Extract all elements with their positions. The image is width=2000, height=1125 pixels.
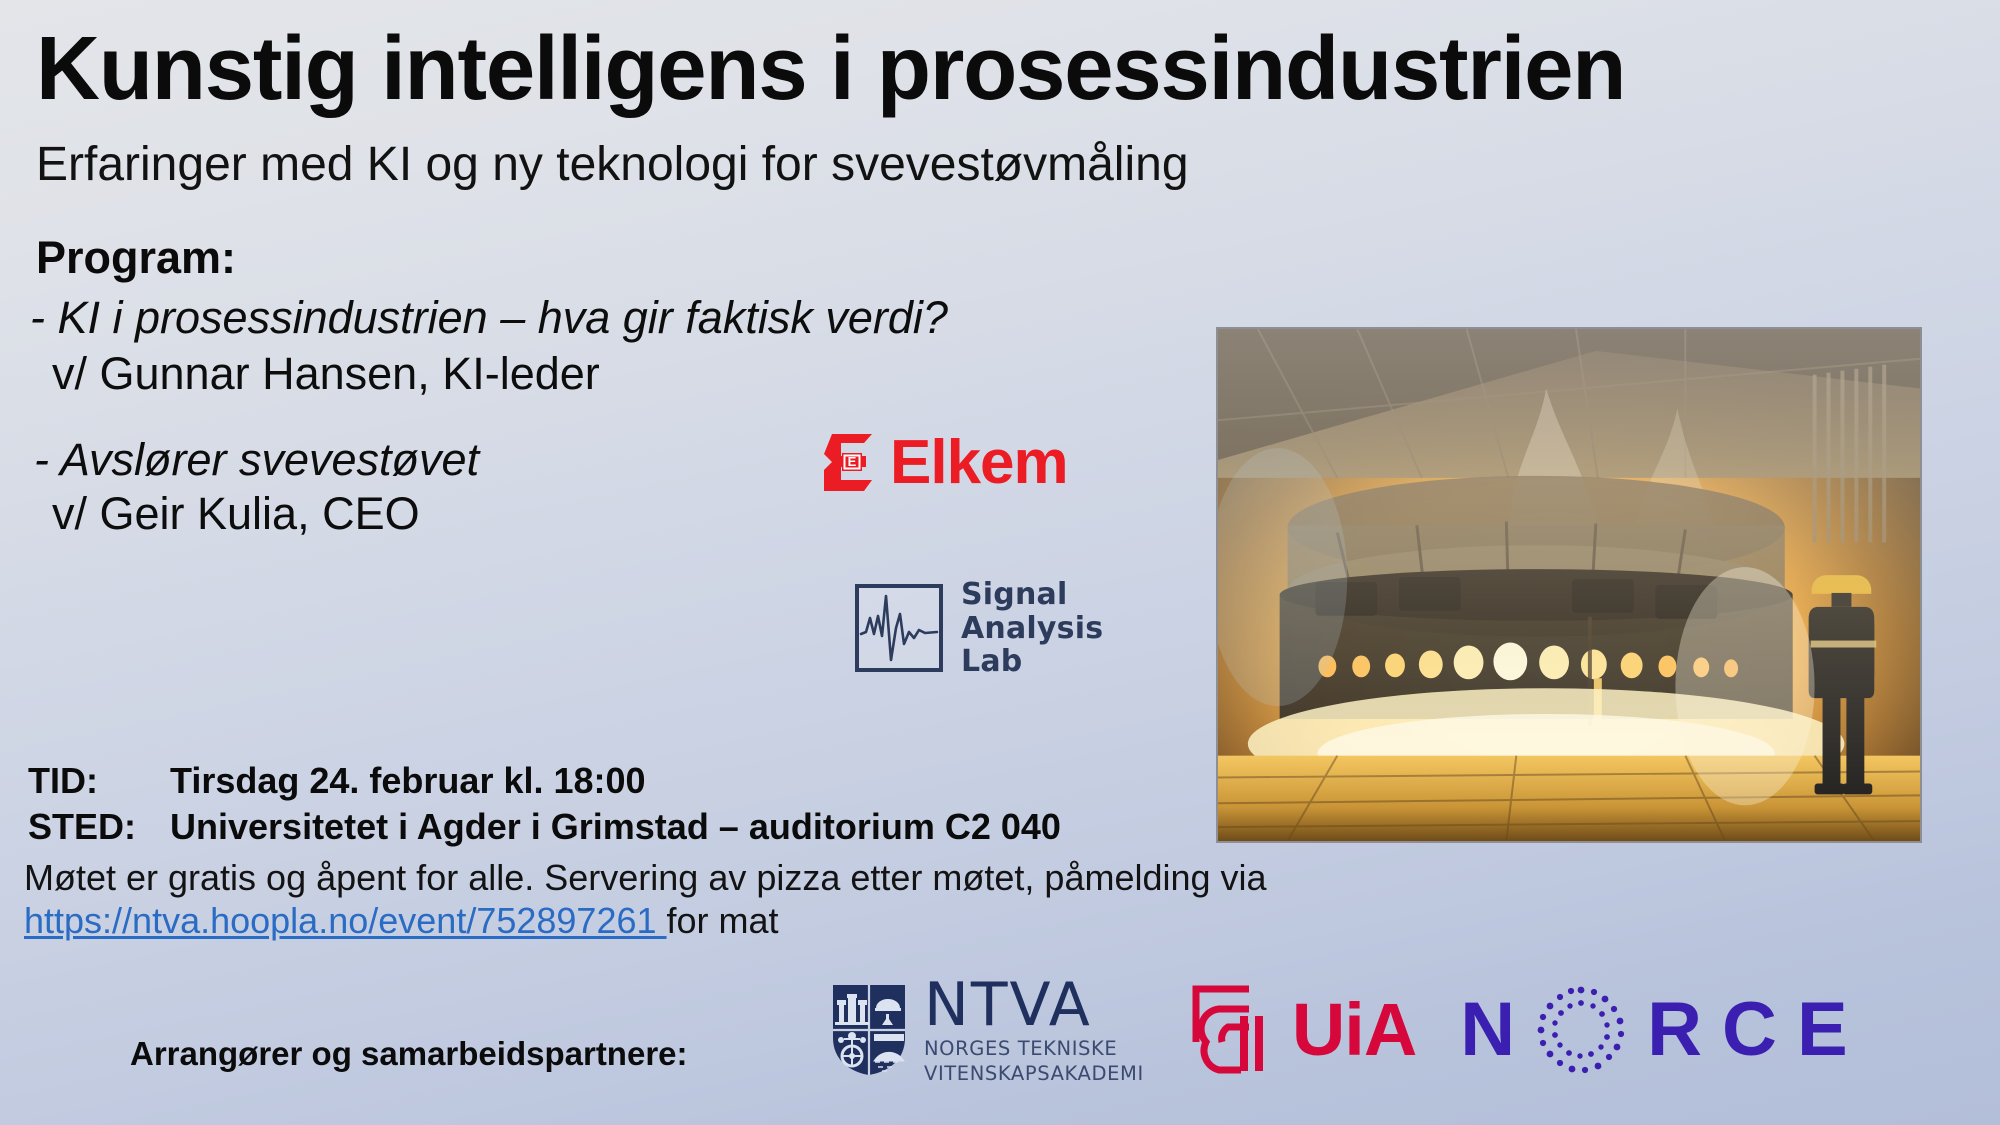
uia-wordmark: UiA [1292, 993, 1416, 1067]
norce-letter-n: N [1460, 992, 1515, 1068]
elkem-mark-icon: E [820, 434, 876, 492]
sal-line-1: Signal [961, 577, 1067, 612]
elkem-logo: E Elkem [820, 432, 1068, 494]
ntva-logo: NTVA NORGES TEKNISKE VITENSKAPSAKADEMI [830, 975, 1144, 1085]
ntva-subtitle-2: VITENSKAPSAKADEMI [924, 1062, 1144, 1085]
norce-dotted-ring-icon [1535, 984, 1627, 1076]
page-title: Kunstig intelligens i prosessindustrien [36, 22, 1908, 117]
page-subtitle: Erfaringer med KI og ny teknologi for sv… [36, 136, 1536, 194]
program-item-2-speaker: v/ Geir Kulia, CEO [52, 488, 420, 540]
uia-mark-icon [1188, 982, 1274, 1078]
registration-link-suffix: for mat [667, 900, 779, 941]
registration-note: Møtet er gratis og åpent for alle. Serve… [24, 855, 1424, 901]
ntva-shield-icon [830, 982, 908, 1078]
svg-text:E: E [848, 454, 857, 469]
elkem-wordmark: Elkem [890, 432, 1068, 494]
ntva-acronym: NTVA [924, 970, 1092, 1040]
sal-line-2: Analysis [961, 611, 1103, 646]
sal-line-3: Lab [961, 644, 1022, 679]
program-item-1-speaker: v/ Gunnar Hansen, KI-leder [52, 348, 600, 400]
registration-link[interactable]: https://ntva.hoopla.no/event/752897261 [24, 900, 667, 941]
place-label: STED: [28, 806, 136, 848]
signal-analysis-lab-wordmark: Signal Analysis Lab [961, 578, 1103, 679]
time-label: TID: [28, 760, 98, 802]
uia-logo: UiA [1188, 982, 1416, 1078]
event-poster: Kunstig intelligens i prosessindustrien … [0, 0, 2000, 1125]
program-heading: Program: [36, 232, 236, 284]
partner-logos: NTVA NORGES TEKNISKE VITENSKAPSAKADEMI U [830, 975, 1848, 1085]
waveform-icon [855, 584, 943, 672]
organizers-label: Arrangører og samarbeidspartnere: [130, 1035, 688, 1073]
place-value: Universitetet i Agder i Grimstad – audit… [170, 806, 1061, 848]
registration-link-line: https://ntva.hoopla.no/event/752897261 f… [24, 900, 779, 942]
furnace-photo [1216, 327, 1922, 843]
norce-letter-e: E [1797, 992, 1848, 1068]
ntva-subtitle-1: NORGES TEKNISKE [924, 1037, 1144, 1060]
norce-letter-r: R [1647, 992, 1702, 1068]
ntva-wordmark: NTVA NORGES TEKNISKE VITENSKAPSAKADEMI [924, 975, 1144, 1085]
program-item-1-talk: - KI i prosessindustrien – hva gir fakti… [30, 292, 948, 344]
norce-letter-c: C [1722, 992, 1777, 1068]
norce-logo: N [1460, 984, 1847, 1076]
signal-analysis-lab-logo: Signal Analysis Lab [855, 578, 1103, 679]
time-value: Tirsdag 24. februar kl. 18:00 [170, 760, 646, 802]
program-item-2-talk: - Avslører svevestøvet [34, 434, 479, 486]
